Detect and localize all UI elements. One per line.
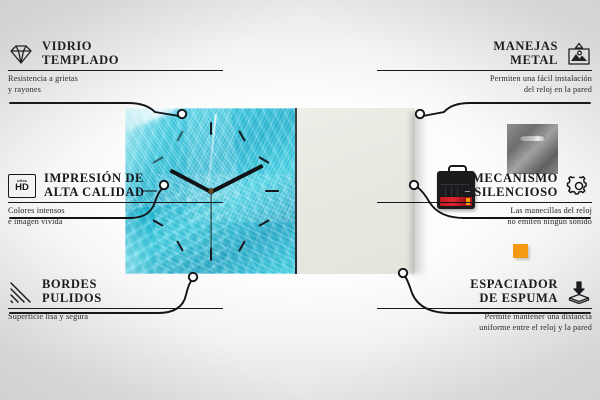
gear-icon (566, 174, 592, 198)
callout-espaciador-de-espuma: ESPACIADORDE ESPUMA Permite mantener una… (377, 278, 592, 333)
diamond-icon (8, 42, 34, 66)
ultra-hd-icon: ultra HD (8, 174, 36, 198)
callout-title: IMPRESIÓN DEALTA CALIDAD (44, 172, 145, 199)
callout-description: Las manecillas del relojno emiten ningún… (377, 206, 592, 227)
clock-tick (176, 240, 184, 251)
callout-title: ESPACIADORDE ESPUMA (470, 278, 558, 305)
clock-tick (176, 130, 184, 141)
callout-bordes-pulidos: BORDESPULIDOS Superficie lisa y segura (8, 278, 223, 323)
clock-center-pin (209, 189, 214, 194)
callout-mecanismo-silencioso: MECANISMOSILENCIOSO Las manecillas del r… (377, 172, 592, 227)
foam-spacer-icon (566, 280, 592, 304)
polished-edges-icon (8, 280, 34, 304)
callout-divider (377, 308, 592, 309)
callout-divider (8, 202, 223, 203)
callout-vidrio-templado: VIDRIOTEMPLADO Resistencia a grietasy ra… (8, 40, 223, 95)
clock-tick (152, 156, 163, 164)
ultra-hd-icon-main-text: HD (15, 183, 29, 193)
foam-spacer (513, 244, 528, 258)
clock-tick (258, 219, 269, 227)
connector-line-manejas (423, 103, 590, 116)
callout-title: BORDESPULIDOS (42, 278, 102, 305)
callout-description: Permite mantener una distanciauniforme e… (377, 312, 592, 333)
callout-title: MANEJASMETAL (493, 40, 558, 67)
callout-description: Permiten una fácil instalacióndel reloj … (377, 74, 592, 95)
callout-impresion-alta-calidad: ultra HD IMPRESIÓN DEALTA CALIDAD Colore… (8, 172, 223, 227)
glass-glare (125, 108, 216, 141)
hanger-slot (520, 135, 545, 141)
callout-description: Colores intensose imagen vívida (8, 206, 223, 227)
clock-tick (265, 190, 279, 192)
clock-tick (210, 122, 212, 135)
callout-title: MECANISMOSILENCIOSO (472, 172, 558, 199)
callout-description: Superficie lisa y segura (8, 312, 223, 323)
clock-tick (238, 130, 246, 141)
metal-hanger-plate (507, 124, 558, 174)
clock-tick (238, 240, 246, 251)
callout-divider (8, 70, 223, 71)
infographic-stage: VIDRIOTEMPLADO Resistencia a grietasy ra… (0, 0, 600, 400)
callout-manejas-metal: MANEJASMETAL Permiten una fácil instalac… (377, 40, 592, 95)
callout-divider (377, 70, 592, 71)
callout-divider (377, 202, 592, 203)
callout-description: Resistencia a grietasy rayones (8, 74, 223, 95)
picture-frame-icon (566, 42, 592, 66)
callout-title: VIDRIOTEMPLADO (42, 40, 119, 67)
callout-divider (8, 308, 223, 309)
clock-tick (258, 156, 269, 164)
